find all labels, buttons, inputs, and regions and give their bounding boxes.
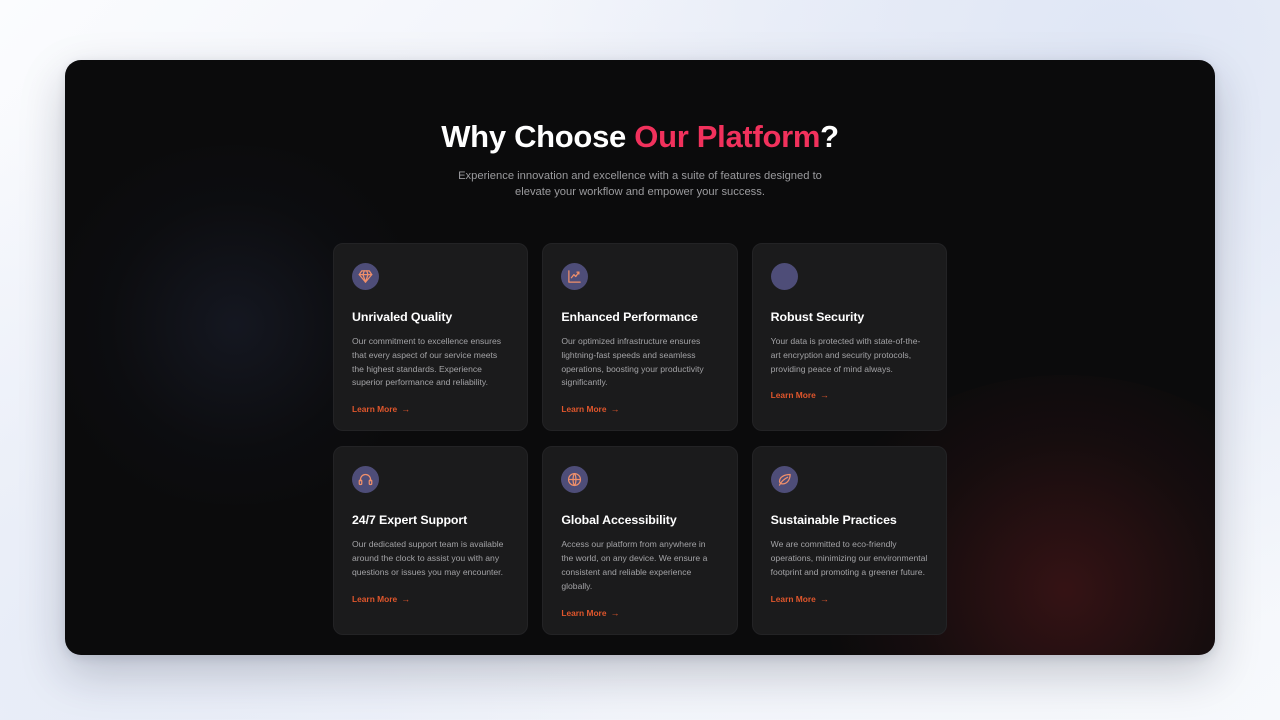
section-subtitle: Experience innovation and excellence wit…: [454, 168, 826, 200]
page-title-plain-start: Why Choose: [441, 119, 634, 154]
feature-card-description: We are committed to eco-friendly operati…: [771, 538, 928, 580]
diamond-icon: [352, 263, 379, 290]
leaf-icon: [771, 466, 798, 493]
feature-card-description: Our dedicated support team is available …: [352, 538, 509, 580]
arrow-right-icon: →: [401, 405, 410, 414]
learn-more-link[interactable]: Learn More →: [352, 594, 410, 604]
shield-icon: [771, 263, 798, 290]
feature-card[interactable]: Global Accessibility Access our platform…: [542, 446, 737, 635]
page-title-plain-end: ?: [820, 119, 839, 154]
learn-more-label: Learn More: [561, 404, 606, 414]
feature-card-title: 24/7 Expert Support: [352, 513, 509, 527]
learn-more-link[interactable]: Learn More →: [352, 404, 410, 414]
feature-card[interactable]: Robust Security Your data is protected w…: [752, 243, 947, 432]
feature-card[interactable]: Unrivaled Quality Our commitment to exce…: [333, 243, 528, 432]
feature-card-title: Robust Security: [771, 310, 928, 324]
headset-icon: [352, 466, 379, 493]
learn-more-label: Learn More: [771, 594, 816, 604]
feature-card[interactable]: 24/7 Expert Support Our dedicated suppor…: [333, 446, 528, 635]
learn-more-label: Learn More: [352, 594, 397, 604]
section-header: Why Choose Our Platform? Experience inno…: [65, 60, 1215, 201]
page-title-accent: Our Platform: [634, 119, 820, 154]
learn-more-label: Learn More: [561, 608, 606, 618]
learn-more-label: Learn More: [771, 390, 816, 400]
feature-card-title: Enhanced Performance: [561, 310, 718, 324]
learn-more-link[interactable]: Learn More →: [771, 390, 829, 400]
learn-more-link[interactable]: Learn More →: [561, 404, 619, 414]
feature-card-description: Our optimized infrastructure ensures lig…: [561, 335, 718, 391]
feature-card-title: Global Accessibility: [561, 513, 718, 527]
arrow-right-icon: →: [820, 391, 829, 400]
feature-card-description: Access our platform from anywhere in the…: [561, 538, 718, 594]
feature-section-panel: Why Choose Our Platform? Experience inno…: [65, 60, 1215, 655]
feature-card-title: Unrivaled Quality: [352, 310, 509, 324]
feature-card-description: Your data is protected with state-of-the…: [771, 335, 928, 377]
feature-card-description: Our commitment to excellence ensures tha…: [352, 335, 509, 391]
page-title: Why Choose Our Platform?: [65, 118, 1215, 155]
feature-card[interactable]: Sustainable Practices We are committed t…: [752, 446, 947, 635]
feature-card-title: Sustainable Practices: [771, 513, 928, 527]
learn-more-link[interactable]: Learn More →: [561, 608, 619, 618]
chart-line-icon: [561, 263, 588, 290]
arrow-right-icon: →: [610, 405, 619, 414]
arrow-right-icon: →: [610, 609, 619, 618]
learn-more-link[interactable]: Learn More →: [771, 594, 829, 604]
globe-icon: [561, 466, 588, 493]
arrow-right-icon: →: [820, 595, 829, 604]
feature-card[interactable]: Enhanced Performance Our optimized infra…: [542, 243, 737, 432]
learn-more-label: Learn More: [352, 404, 397, 414]
feature-card-grid: Unrivaled Quality Our commitment to exce…: [333, 243, 947, 635]
arrow-right-icon: →: [401, 595, 410, 604]
